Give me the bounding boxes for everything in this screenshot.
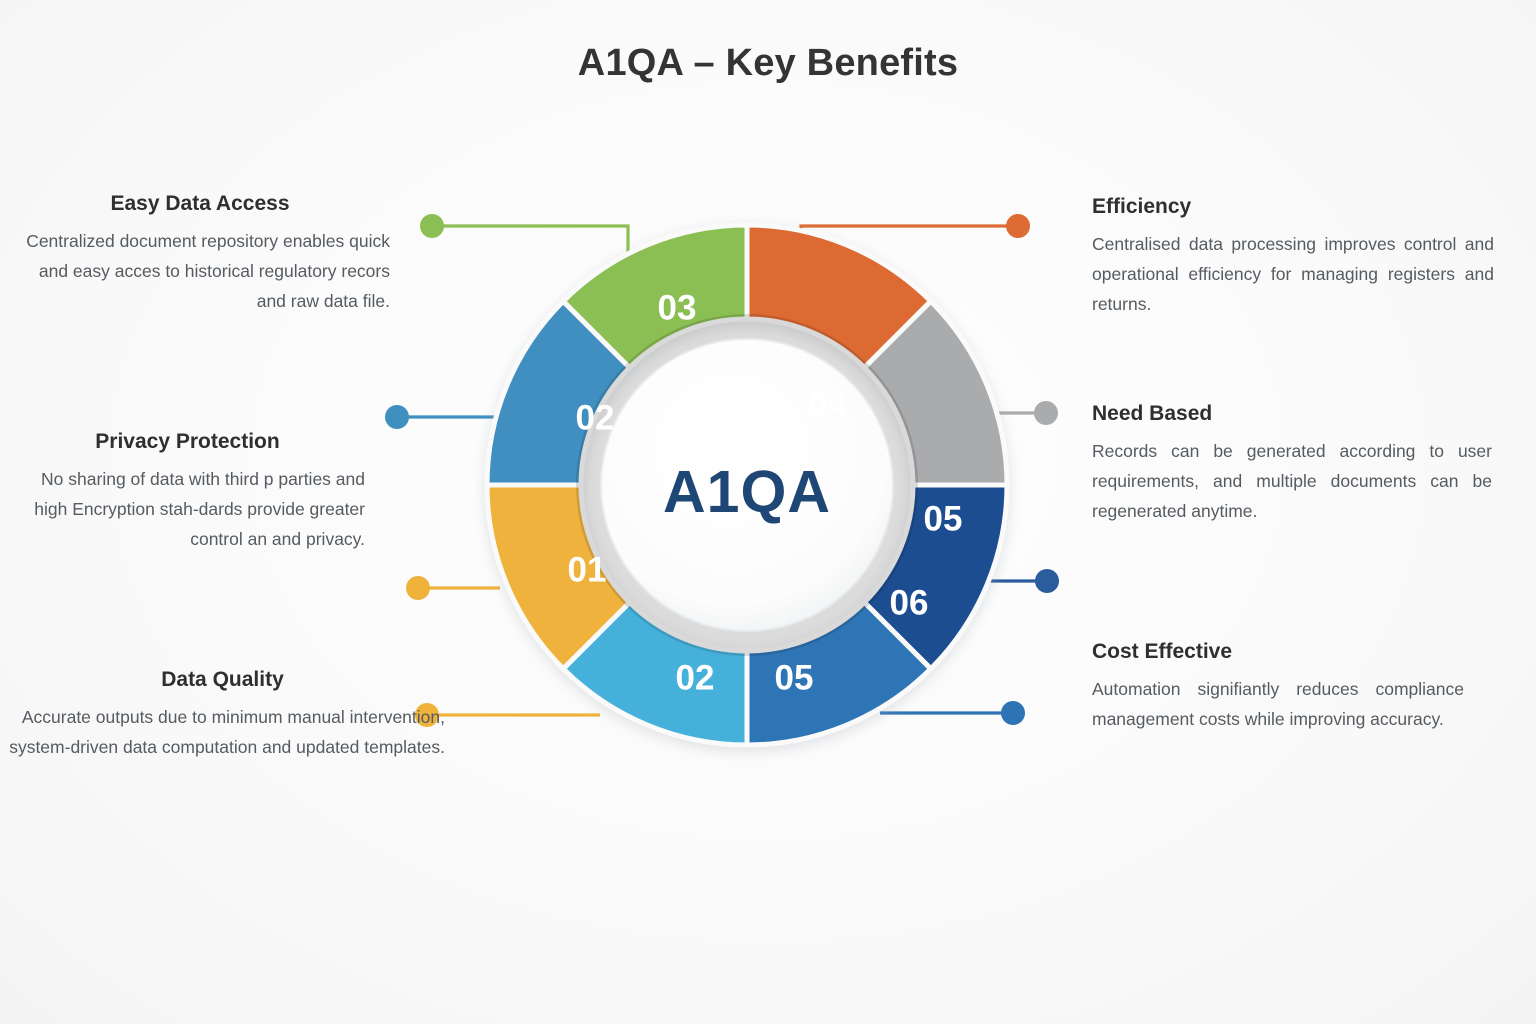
benefit-need-based: Need Based Records can be generated acco… (1092, 402, 1492, 526)
benefit-body-data-quality: Accurate outputs due to minimum manual i… (0, 702, 445, 762)
segment-label-05-gray: 05 (924, 500, 963, 539)
benefit-body-privacy-protection: No sharing of data with third p parties … (10, 464, 365, 554)
benefit-heading-need-based: Need Based (1092, 402, 1492, 426)
segment-label-01: 01 (568, 551, 607, 590)
benefit-privacy-protection: Privacy Protection No sharing of data wi… (10, 430, 365, 554)
benefit-easy-data-access: Easy Data Access Centralized document re… (10, 192, 390, 316)
benefit-data-quality: Data Quality Accurate outputs due to min… (0, 668, 445, 762)
segment-label-03: 03 (658, 289, 697, 328)
benefit-body-easy-data-access: Centralized document repository enables … (10, 226, 390, 316)
benefit-heading-privacy-protection: Privacy Protection (10, 430, 365, 454)
benefit-heading-easy-data-access: Easy Data Access (10, 192, 390, 216)
segment-label-02-light: 02 (676, 659, 715, 698)
benefit-efficiency: Efficiency Centralised data processing i… (1092, 195, 1494, 319)
segment-label-06: 06 (890, 584, 929, 623)
benefit-body-need-based: Records can be generated according to us… (1092, 436, 1492, 526)
benefits-donut-chart: 04 05 06 05 02 01 02 03 A1QA (462, 200, 1032, 770)
benefit-heading-cost-effective: Cost Effective (1092, 640, 1464, 664)
benefit-heading-data-quality: Data Quality (0, 668, 445, 692)
benefit-cost-effective: Cost Effective Automation signifiantly r… (1092, 640, 1464, 734)
benefit-body-cost-effective: Automation signifiantly reduces complian… (1092, 674, 1464, 734)
benefit-heading-efficiency: Efficiency (1092, 195, 1494, 219)
benefit-body-efficiency: Centralised data processing improves con… (1092, 229, 1494, 319)
segment-label-04: 04 (809, 385, 848, 424)
page-title: A1QA – Key Benefits (0, 42, 1536, 85)
donut-center-label: A1QA (663, 459, 831, 525)
segment-label-05-blue: 05 (775, 659, 814, 698)
segment-label-02-steel: 02 (576, 399, 615, 438)
